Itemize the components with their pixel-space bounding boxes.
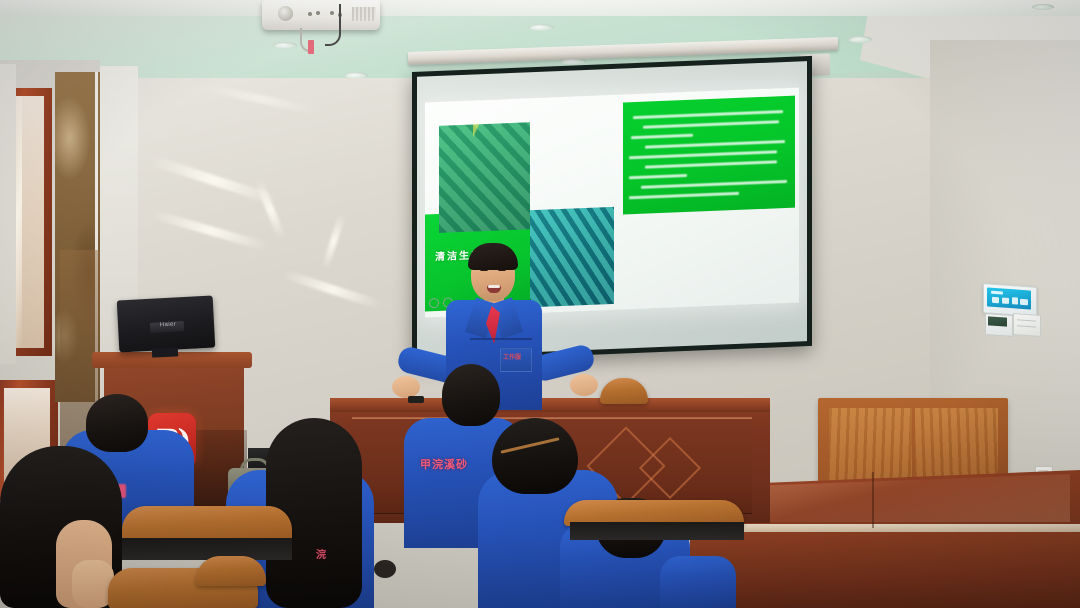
projector-cable-tag xyxy=(308,40,314,54)
projector-cable xyxy=(325,4,341,46)
attendee-hair-bun xyxy=(492,418,578,494)
slide-text-line xyxy=(633,110,783,119)
presenter-pocket-label: 工作服 xyxy=(503,352,529,361)
auditorium-chair[interactable] xyxy=(196,556,266,586)
conference-room-photo: 清洁生产培训 xyxy=(0,0,1080,608)
stage-seam xyxy=(872,472,874,528)
slide-photo-sugarcane xyxy=(439,122,530,233)
presenter-uniform-seam xyxy=(470,338,532,340)
slide-text-line xyxy=(629,174,687,179)
chair-seat xyxy=(122,538,292,560)
wall-plate-line xyxy=(1017,325,1036,327)
slide-text-line xyxy=(629,192,739,199)
hair-tie xyxy=(374,560,396,578)
attendee-uniform-text: 浣 xyxy=(316,546,360,561)
recessed-ceiling-light xyxy=(1032,4,1054,10)
display-segment xyxy=(991,291,1003,295)
projector-vent xyxy=(352,7,376,21)
slide-text-line xyxy=(629,150,777,159)
podium-top-rail xyxy=(330,398,770,412)
control-panel-display xyxy=(987,287,1031,309)
slide-photo-bagasse xyxy=(530,207,614,307)
attendee-head xyxy=(442,364,500,426)
projector-button xyxy=(316,11,320,15)
projector-lens-icon xyxy=(278,6,293,21)
slide-text-line xyxy=(641,180,787,189)
slide-text-line xyxy=(645,160,777,168)
pointer-icon[interactable] xyxy=(429,298,439,308)
recessed-ceiling-light xyxy=(273,42,297,49)
ceiling-edge-trim xyxy=(0,0,1080,16)
auditorium-chair[interactable] xyxy=(122,506,292,542)
recessed-ceiling-light xyxy=(528,24,554,31)
monitor-stand xyxy=(152,347,178,357)
display-segment xyxy=(1012,297,1018,304)
attendee-body xyxy=(660,556,736,608)
presenter-left-hand xyxy=(392,376,420,398)
attendee-head xyxy=(86,394,148,452)
wall-plate-blank xyxy=(1013,313,1041,337)
display-segment xyxy=(1020,299,1028,306)
presenter-right-hand xyxy=(570,374,598,396)
slide-text-block xyxy=(623,96,795,215)
display-segment xyxy=(992,297,999,303)
recessed-ceiling-light xyxy=(848,36,872,43)
wall-column-left xyxy=(0,64,16,364)
stage-platform-face xyxy=(690,532,1080,608)
projector-button xyxy=(308,12,312,16)
display-segment xyxy=(1002,298,1009,304)
chair-seat xyxy=(570,522,744,540)
presenter-wristwatch xyxy=(408,396,424,403)
podium-edge-highlight xyxy=(352,417,752,419)
thermostat-display xyxy=(988,316,1007,326)
slide-text-line xyxy=(643,120,779,128)
presenter-teeth xyxy=(488,285,500,288)
slide-text-line xyxy=(631,134,693,139)
wall-plate-line xyxy=(1017,319,1036,321)
slide-text-line xyxy=(645,140,785,149)
